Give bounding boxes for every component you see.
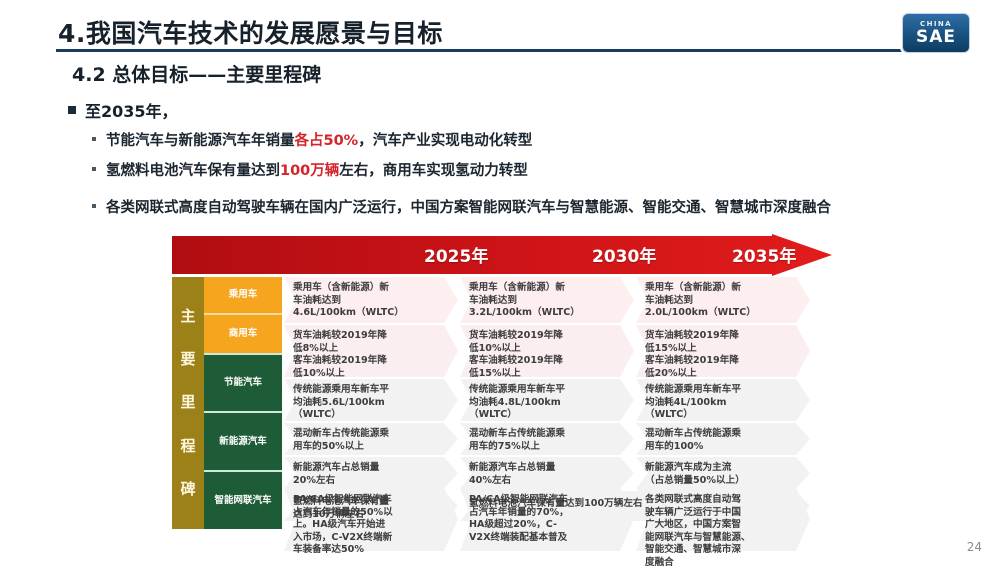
logo-main-text: SAE	[916, 29, 956, 46]
cell-r2c3: 货车油耗较2019年降 低15%以上 客车油耗较2019年降 低20%以上	[636, 325, 810, 377]
cell-r2c1: 货车油耗较2019年降 低8%以上 客车油耗较2019年降 低10%以上	[284, 325, 458, 377]
timeline-year-2035: 2035年	[732, 242, 796, 267]
milestone-side-band: 主 要 里 程 碑	[172, 277, 204, 529]
category-commercial-vehicle: 商用车	[204, 315, 282, 355]
timeline-year-2030: 2030年	[592, 242, 656, 267]
timeline-arrow: 2025年 2030年 2035年	[172, 234, 832, 276]
cell-r3c1: 传统能源乘用车新车平 均油耗5.6L/100km （WLTC）	[284, 379, 458, 421]
category-column: 乘用车 商用车 节能汽车 新能源汽车 智能网联汽车	[204, 277, 282, 529]
cell-r7c1: PA/CA级智能网联汽车 占汽车年销量的50%以 上。HA级汽车开始进 入市场，…	[284, 489, 458, 553]
side-band-char-2: 要	[180, 352, 195, 367]
cell-r7c2: PA/CA级智能网联汽车 占汽车年销量的70%， HA级超过20%，C- V2X…	[460, 489, 634, 553]
cell-r5c2: 新能源汽车占总销量 40%左右	[460, 457, 634, 489]
cell-r5c1: 新能源汽车占总销量 20%左右	[284, 457, 458, 489]
page-title: 4.我国汽车技术的发展愿景与目标	[58, 14, 443, 50]
page-number: 24	[967, 540, 982, 554]
cell-r2c2: 货车油耗较2019年降 低10%以上 客车油耗较2019年降 低15%以上	[460, 325, 634, 377]
side-band-char-1: 主	[180, 309, 195, 324]
bullet-dot-icon	[92, 137, 96, 141]
cell-r1c3: 乘用车（含新能源）新 车油耗达到 2.0L/100km（WLTC）	[636, 277, 810, 323]
bullet-dot-icon	[92, 167, 96, 171]
cell-r5c3: 新能源汽车成为主流 （占总销量50%以上）	[636, 457, 810, 489]
bullet-item-2: 氢燃料电池汽车保有量达到100万辆左右，商用车实现氢动力转型	[92, 159, 528, 180]
cell-r4c1: 混动新车占传统能源乘 用车的50%以上	[284, 423, 458, 455]
bullet-level1-label: 至2035年，	[85, 98, 178, 122]
slide: 4.我国汽车技术的发展愿景与目标 CHINA SAE 4.2 总体目标——主要里…	[0, 0, 1000, 562]
bullet-level1: 至2035年，	[68, 98, 178, 122]
title-divider	[56, 49, 944, 52]
cell-r1c1: 乘用车（含新能源）新 车油耗达到 4.6L/100km（WLTC）	[284, 277, 458, 323]
milestone-cells: 乘用车（含新能源）新 车油耗达到 4.6L/100km（WLTC） 乘用车（含新…	[284, 277, 832, 535]
section-subtitle: 4.2 总体目标——主要里程碑	[72, 60, 321, 87]
category-energy-saving-vehicle: 节能汽车	[204, 355, 282, 413]
category-intelligent-connected-vehicle: 智能网联汽车	[204, 472, 282, 529]
bullet-dot-icon	[92, 204, 96, 208]
side-band-char-4: 程	[180, 439, 195, 454]
milestone-diagram: 主 要 里 程 碑 乘用车 商用车 节能汽车 新能源汽车 智能网联汽车	[172, 277, 832, 535]
cell-r4c3: 混动新车占传统能源乘 用车的100%	[636, 423, 810, 455]
bullet-item-3-text: 各类网联式高度自动驾驶车辆在国内广泛运行，中国方案智能网联汽车与智慧能源、智能交…	[106, 196, 831, 217]
cell-r1c2: 乘用车（含新能源）新 车油耗达到 3.2L/100km（WLTC）	[460, 277, 634, 323]
category-new-energy-vehicle: 新能源汽车	[204, 413, 282, 472]
cell-r7c3: 各类网联式高度自动驾 驶车辆广泛运行于中国 广大地区，中国方案智 能网联汽车与智…	[636, 489, 810, 553]
cell-r3c3: 传统能源乘用车新车平 均油耗4L/100km （WLTC）	[636, 379, 810, 421]
bullet-item-2-text: 氢燃料电池汽车保有量达到100万辆左右，商用车实现氢动力转型	[106, 159, 528, 180]
bullet-item-3: 各类网联式高度自动驾驶车辆在国内广泛运行，中国方案智能网联汽车与智慧能源、智能交…	[92, 196, 831, 217]
side-band-char-5: 碑	[180, 482, 195, 497]
timeline-year-2025: 2025年	[424, 242, 488, 267]
category-passenger-vehicle: 乘用车	[204, 277, 282, 315]
bullet-item-1: 节能汽车与新能源汽车年销量各占50%，汽车产业实现电动化转型	[92, 129, 532, 150]
cell-r3c2: 传统能源乘用车新车平 均油耗4.8L/100km （WLTC）	[460, 379, 634, 421]
bullet-square-icon	[68, 106, 76, 114]
bullet-item-1-text: 节能汽车与新能源汽车年销量各占50%，汽车产业实现电动化转型	[106, 129, 532, 150]
cell-r4c2: 混动新车占传统能源乘 用车的75%以上	[460, 423, 634, 455]
china-sae-logo: CHINA SAE	[902, 13, 970, 53]
side-band-char-3: 里	[180, 395, 195, 410]
